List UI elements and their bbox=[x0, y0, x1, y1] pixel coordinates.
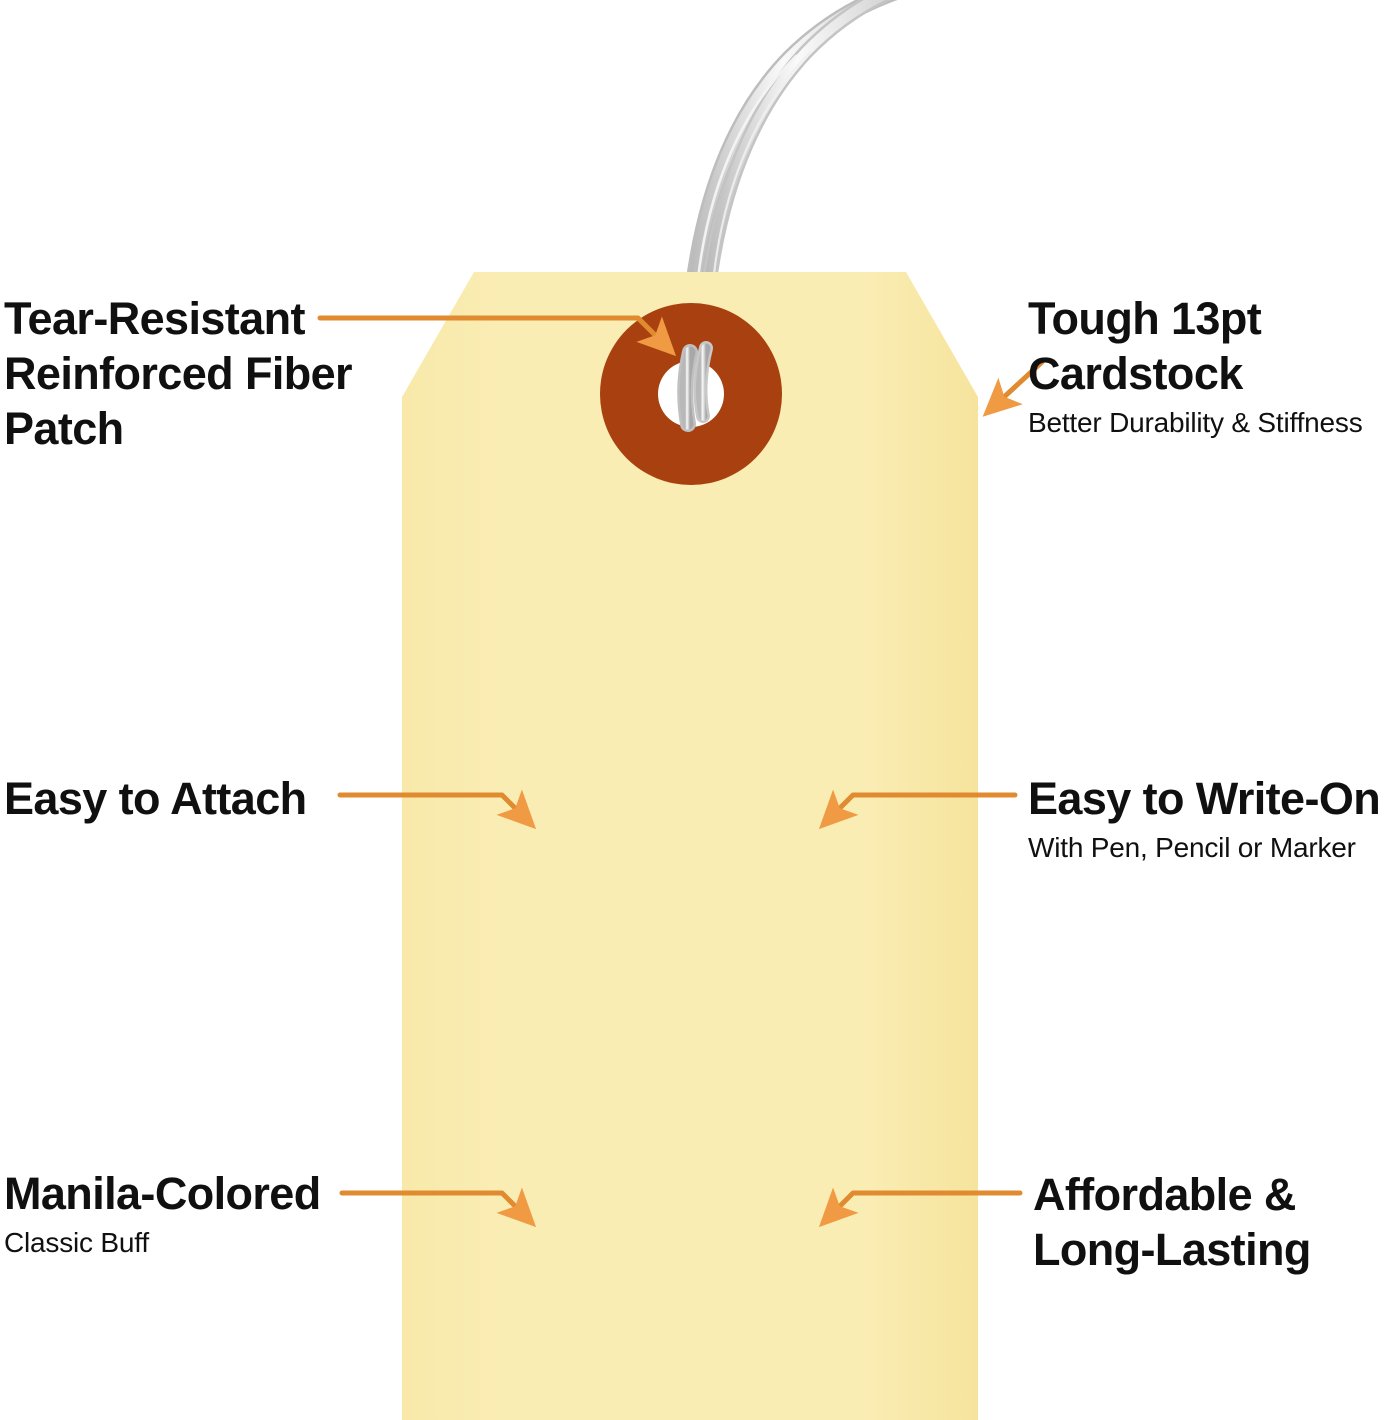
callout-tear-resistant: Tear-Resistant Reinforced Fiber Patch bbox=[4, 292, 404, 457]
callout-title: Affordable & Long-Lasting bbox=[1033, 1168, 1391, 1278]
callout-subtitle: Better Durability & Stiffness bbox=[1028, 405, 1388, 440]
string-through-hole bbox=[685, 348, 706, 424]
callout-affordable: Affordable & Long-Lasting bbox=[1033, 1168, 1391, 1278]
product-feature-diagram: Tear-Resistant Reinforced Fiber Patch To… bbox=[0, 0, 1391, 1420]
callout-title: Easy to Write-On bbox=[1028, 772, 1391, 827]
callout-title: Easy to Attach bbox=[4, 772, 404, 827]
callout-title: Manila-Colored bbox=[4, 1167, 404, 1222]
callout-cardstock: Tough 13pt Cardstock Better Durability &… bbox=[1028, 292, 1388, 440]
callout-title: Tough 13pt Cardstock bbox=[1028, 292, 1388, 402]
callout-easy-attach: Easy to Attach bbox=[4, 772, 404, 827]
callout-title: Tear-Resistant Reinforced Fiber Patch bbox=[4, 292, 404, 457]
callout-easy-write-on: Easy to Write-On With Pen, Pencil or Mar… bbox=[1028, 772, 1391, 865]
callout-manila-colored: Manila-Colored Classic Buff bbox=[4, 1167, 404, 1260]
callout-subtitle: With Pen, Pencil or Marker bbox=[1028, 830, 1391, 865]
callout-subtitle: Classic Buff bbox=[4, 1225, 404, 1260]
